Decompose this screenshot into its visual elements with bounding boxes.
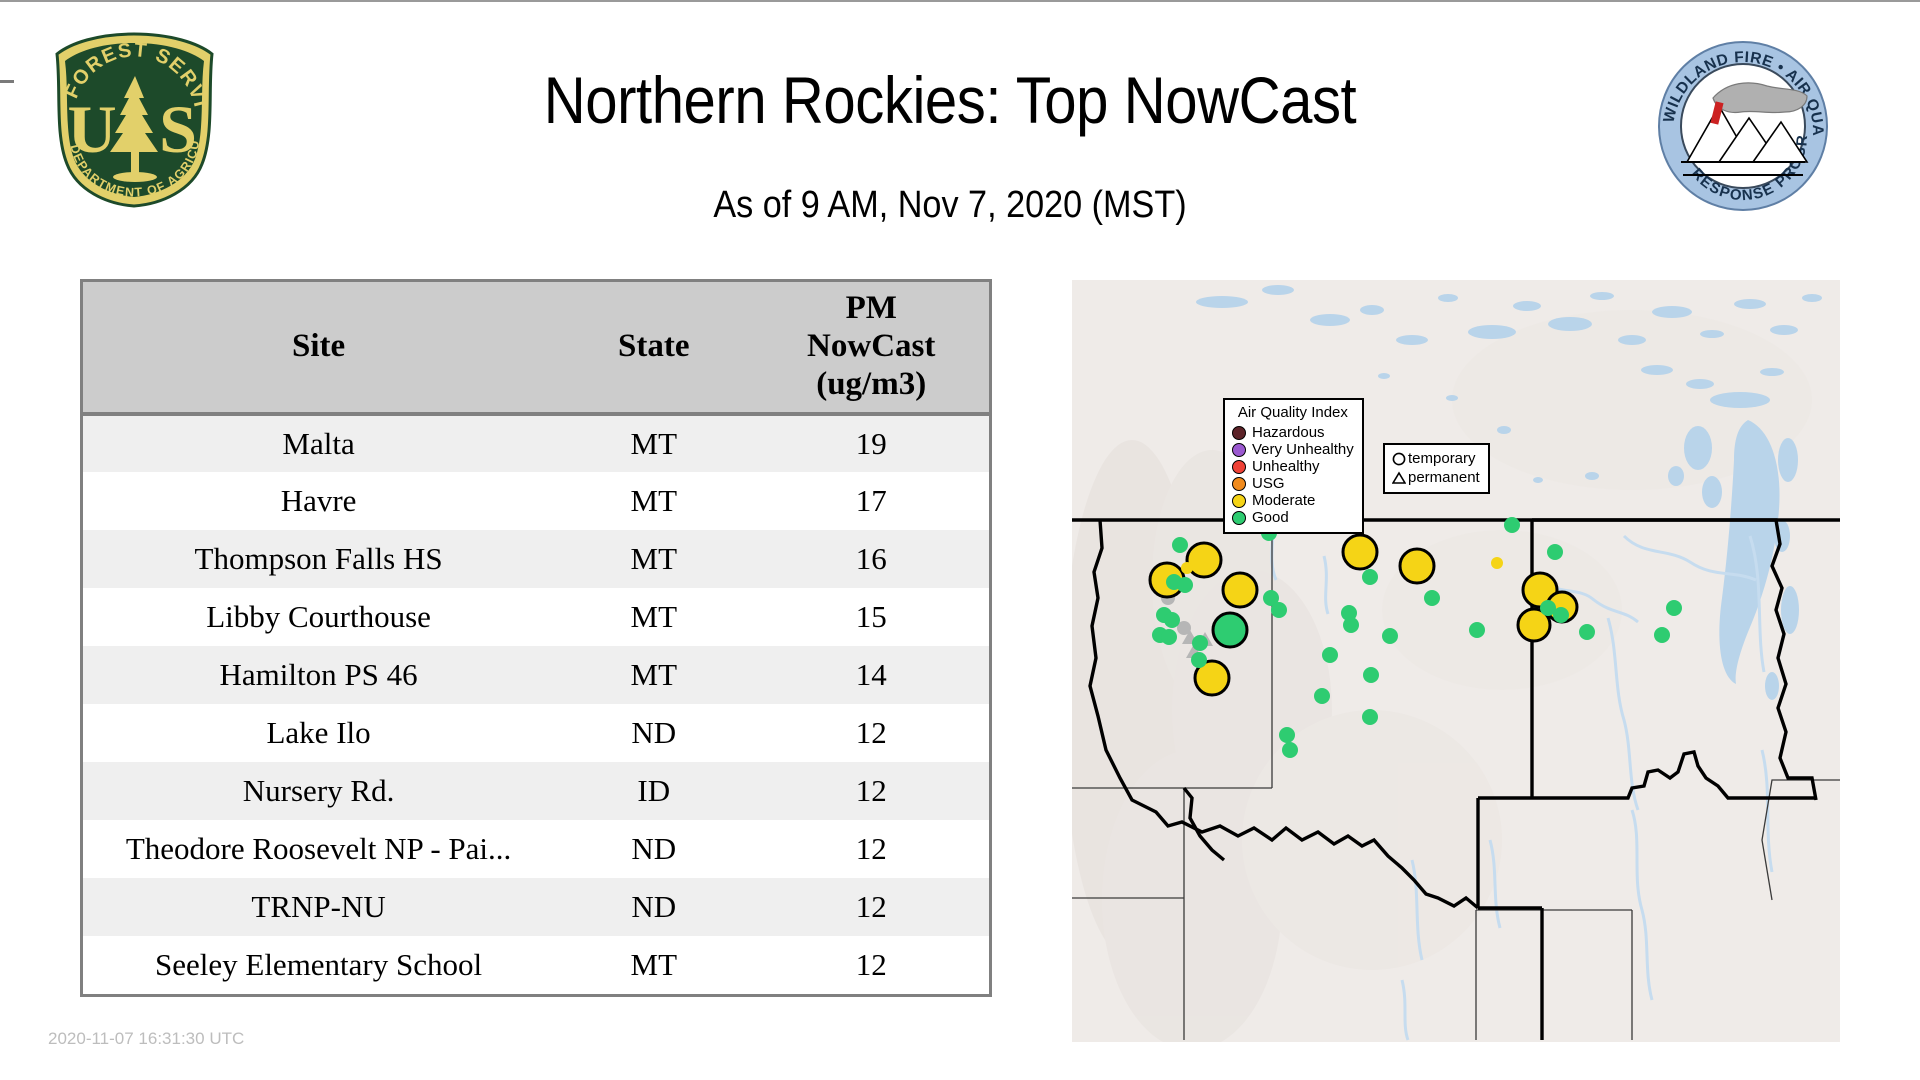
legend-item-good: Good [1232,509,1354,526]
legend-item-label: Hazardous [1252,425,1325,440]
cell-state: MT [554,646,753,704]
monitor-marker[interactable] [1271,602,1287,618]
cell-state: ID [554,762,753,820]
table-row: MaltaMT19 [83,414,989,472]
monitor-marker[interactable] [1491,557,1503,569]
legend-item-label: Good [1252,510,1289,525]
cell-pm: 12 [753,704,989,762]
monitor-marker[interactable] [1362,569,1378,585]
cell-site: Malta [83,414,554,472]
monitor-marker[interactable] [1192,635,1208,651]
monitor-marker[interactable] [1187,543,1221,577]
cell-state: MT [554,472,753,530]
column-header-pm-nowcast: PM NowCast (ug/m3) [753,282,989,414]
table-row: Libby CourthouseMT15 [83,588,989,646]
cell-pm: 12 [753,936,989,994]
monitor-marker[interactable] [1172,537,1188,553]
cell-state: ND [554,704,753,762]
table-row: HavreMT17 [83,472,989,530]
cell-pm: 12 [753,820,989,878]
monitor-marker[interactable] [1161,629,1177,645]
cell-state: MT [554,414,753,472]
cell-pm: 19 [753,414,989,472]
table-row: Thompson Falls HSMT16 [83,530,989,588]
cell-pm: 12 [753,762,989,820]
left-edge-tick [0,80,14,83]
table-row: Nursery Rd.ID12 [83,762,989,820]
legend-item-label: USG [1252,476,1285,491]
column-header-site: Site [83,282,554,414]
legend-items: HazardousVery UnhealthyUnhealthyUSGModer… [1232,424,1354,526]
cell-site: Thompson Falls HS [83,530,554,588]
cell-site: TRNP-NU [83,878,554,936]
cell-site: Seeley Elementary School [83,936,554,994]
monitor-marker[interactable] [1213,613,1247,647]
cell-pm: 14 [753,646,989,704]
cell-state: MT [554,936,753,994]
cell-pm: 12 [753,878,989,936]
legend-type-permanent: permanent [1390,468,1480,487]
legend-swatch-icon [1232,426,1246,440]
legend-swatch-icon [1232,494,1246,508]
legend-item-unhealthy: Unhealthy [1232,458,1354,475]
footer-timestamp: 2020-11-07 16:31:30 UTC [48,1029,244,1049]
air-quality-monitor-map[interactable] [1072,280,1840,1042]
slide-root: FOREST SERVICE DEPARTMENT OF AGRICULTURE… [0,0,1920,1080]
pm-header-line3: (ug/m3) [757,366,985,404]
table-row: Hamilton PS 46MT14 [83,646,989,704]
table-header-row: Site State PM NowCast (ug/m3) [83,282,989,414]
cell-site: Havre [83,472,554,530]
monitor-marker[interactable] [1547,544,1563,560]
monitor-marker[interactable] [1654,627,1670,643]
legend-item-label: Very Unhealthy [1252,442,1354,457]
cell-site: Hamilton PS 46 [83,646,554,704]
monitor-marker[interactable] [1343,617,1359,633]
map-canvas [1072,280,1840,1042]
legend-item-label: Moderate [1252,493,1315,508]
legend-type-temporary-label: temporary [1408,450,1476,467]
legend-swatch-icon [1232,477,1246,491]
cell-site: Libby Courthouse [83,588,554,646]
legend-swatch-icon [1232,511,1246,525]
top-nowcast-table: Site State PM NowCast (ug/m3) MaltaMT19H… [80,279,992,997]
monitor-marker[interactable] [1314,688,1330,704]
pm-header-line1: PM [757,290,985,328]
triangle-icon [1390,471,1408,485]
monitor-marker[interactable] [1424,590,1440,606]
legend-item-very-unhealthy: Very Unhealthy [1232,441,1354,458]
legend-swatch-icon [1232,443,1246,457]
table-row: Seeley Elementary SchoolMT12 [83,936,989,994]
cell-site: Lake Ilo [83,704,554,762]
cell-state: MT [554,588,753,646]
wildland-fire-air-quality-response-program-logo: WILDLAND FIRE • AIR QUALITY RESPONSE PRO… [1657,40,1829,212]
svg-text:S: S [159,91,197,167]
monitor-marker[interactable] [1282,742,1298,758]
monitor-marker[interactable] [1363,667,1379,683]
monitor-marker[interactable] [1177,577,1193,593]
monitor-marker[interactable] [1191,652,1207,668]
svg-text:U: U [67,91,116,167]
legend-item-hazardous: Hazardous [1232,424,1354,441]
monitor-type-legend: temporary permanent [1383,443,1490,494]
cell-pm: 15 [753,588,989,646]
monitor-marker[interactable] [1223,573,1257,607]
monitor-marker[interactable] [1382,628,1398,644]
monitor-marker[interactable] [1322,647,1338,663]
legend-item-label: Unhealthy [1252,459,1320,474]
page-subtitle: As of 9 AM, Nov 7, 2020 (MST) [320,184,1580,227]
monitor-marker[interactable] [1553,607,1569,623]
table-row: Theodore Roosevelt NP - Pai...ND12 [83,820,989,878]
legend-item-moderate: Moderate [1232,492,1354,509]
monitor-marker[interactable] [1362,709,1378,725]
cell-site: Nursery Rd. [83,762,554,820]
legend-type-temporary: temporary [1390,449,1480,468]
table-row: TRNP-NUND12 [83,878,989,936]
legend-type-permanent-label: permanent [1408,469,1480,486]
page-title: Northern Rockies: Top NowCast [334,62,1566,138]
monitor-marker[interactable] [1181,562,1193,574]
cell-state: ND [554,820,753,878]
monitor-marker[interactable] [1400,549,1434,583]
circle-icon [1390,452,1408,466]
cell-pm: 16 [753,530,989,588]
legend-item-usg: USG [1232,475,1354,492]
monitor-marker[interactable] [1504,517,1520,533]
column-header-state: State [554,282,753,414]
monitor-marker[interactable] [1164,612,1180,628]
cell-state: MT [554,530,753,588]
usda-forest-service-shield-logo: FOREST SERVICE DEPARTMENT OF AGRICULTURE… [52,30,217,210]
cell-site: Theodore Roosevelt NP - Pai... [83,820,554,878]
monitor-marker[interactable] [1469,622,1485,638]
pm-header-line2: NowCast [757,328,985,366]
monitor-marker[interactable] [1279,727,1295,743]
cell-pm: 17 [753,472,989,530]
table-body: MaltaMT19HavreMT17Thompson Falls HSMT16L… [83,414,989,994]
monitor-marker[interactable] [1343,535,1377,569]
air-quality-index-legend: Air Quality Index HazardousVery Unhealth… [1223,398,1364,534]
table-row: Lake IloND12 [83,704,989,762]
legend-swatch-icon [1232,460,1246,474]
legend-title: Air Quality Index [1232,405,1354,420]
monitor-marker[interactable] [1579,624,1595,640]
cell-state: ND [554,878,753,936]
monitor-marker[interactable] [1666,600,1682,616]
